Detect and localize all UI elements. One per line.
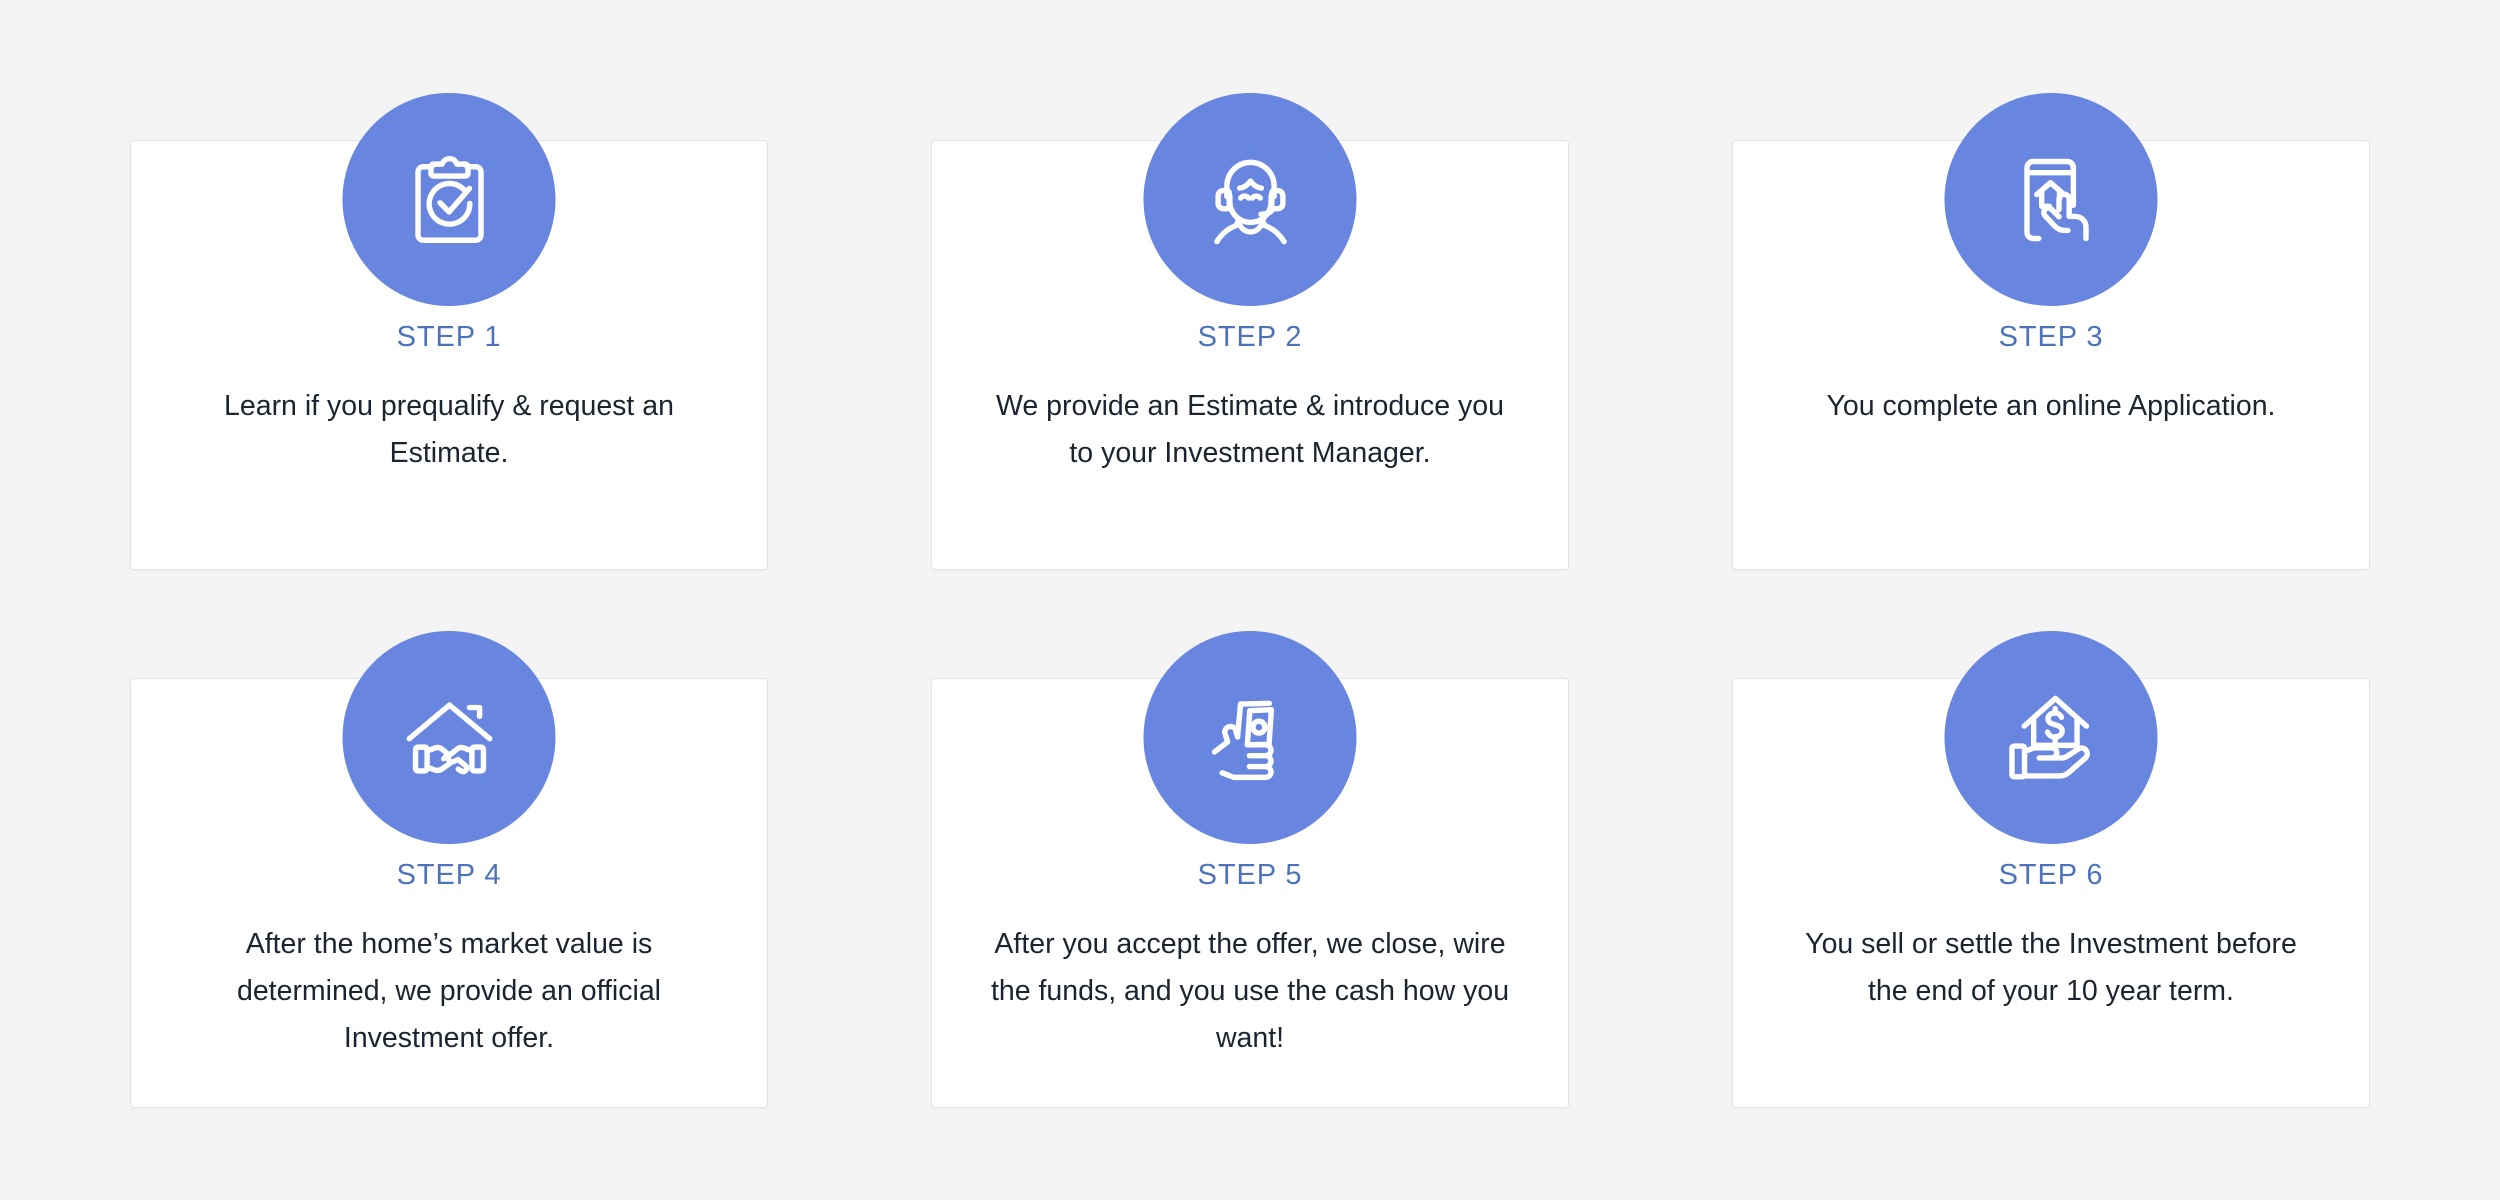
step-description: You sell or settle the Investment before… xyxy=(1791,921,2311,1015)
phone-house-tap-icon xyxy=(1945,93,2158,306)
step-card-body: STEP 1 Learn if you prequalify & request… xyxy=(131,323,767,477)
step-card-body: STEP 2 We provide an Estimate & introduc… xyxy=(932,323,1568,477)
step-card-4[interactable]: STEP 4 After the home’s market value is … xyxy=(130,678,768,1108)
hand-holding-house-dollar-icon xyxy=(1945,631,2158,844)
step-description: After the home’s market value is determi… xyxy=(189,921,709,1062)
step-label: STEP 5 xyxy=(968,861,1532,890)
step-description: You complete an online Application. xyxy=(1791,383,2311,430)
step-card-body: STEP 4 After the home’s market value is … xyxy=(131,861,767,1062)
step-label: STEP 1 xyxy=(167,323,731,352)
step-card-body: STEP 3 You complete an online Applicatio… xyxy=(1733,323,2369,430)
step-description: After you accept the offer, we close, wi… xyxy=(990,921,1510,1062)
step-card-body: STEP 6 You sell or settle the Investment… xyxy=(1733,861,2369,1015)
step-label: STEP 6 xyxy=(1769,861,2333,890)
step-card-3[interactable]: STEP 3 You complete an online Applicatio… xyxy=(1732,140,2370,570)
step-card-5[interactable]: STEP 5 After you accept the offer, we cl… xyxy=(931,678,1569,1108)
step-label: STEP 2 xyxy=(968,323,1532,352)
step-card-6[interactable]: STEP 6 You sell or settle the Investment… xyxy=(1732,678,2370,1108)
hand-holding-cash-icon xyxy=(1144,631,1357,844)
house-handshake-icon xyxy=(343,631,556,844)
step-label: STEP 3 xyxy=(1769,323,2333,352)
step-description: We provide an Estimate & introduce you t… xyxy=(990,383,1510,477)
headset-support-agent-icon xyxy=(1144,93,1357,306)
step-card-1[interactable]: STEP 1 Learn if you prequalify & request… xyxy=(130,140,768,570)
step-card-body: STEP 5 After you accept the offer, we cl… xyxy=(932,861,1568,1062)
step-description: Learn if you prequalify & request an Est… xyxy=(189,383,709,477)
how-it-works-steps-section: STEP 1 Learn if you prequalify & request… xyxy=(0,0,2500,1200)
step-card-2[interactable]: STEP 2 We provide an Estimate & introduc… xyxy=(931,140,1569,570)
step-label: STEP 4 xyxy=(167,861,731,890)
steps-grid: STEP 1 Learn if you prequalify & request… xyxy=(130,140,2370,1108)
clipboard-check-icon xyxy=(343,93,556,306)
